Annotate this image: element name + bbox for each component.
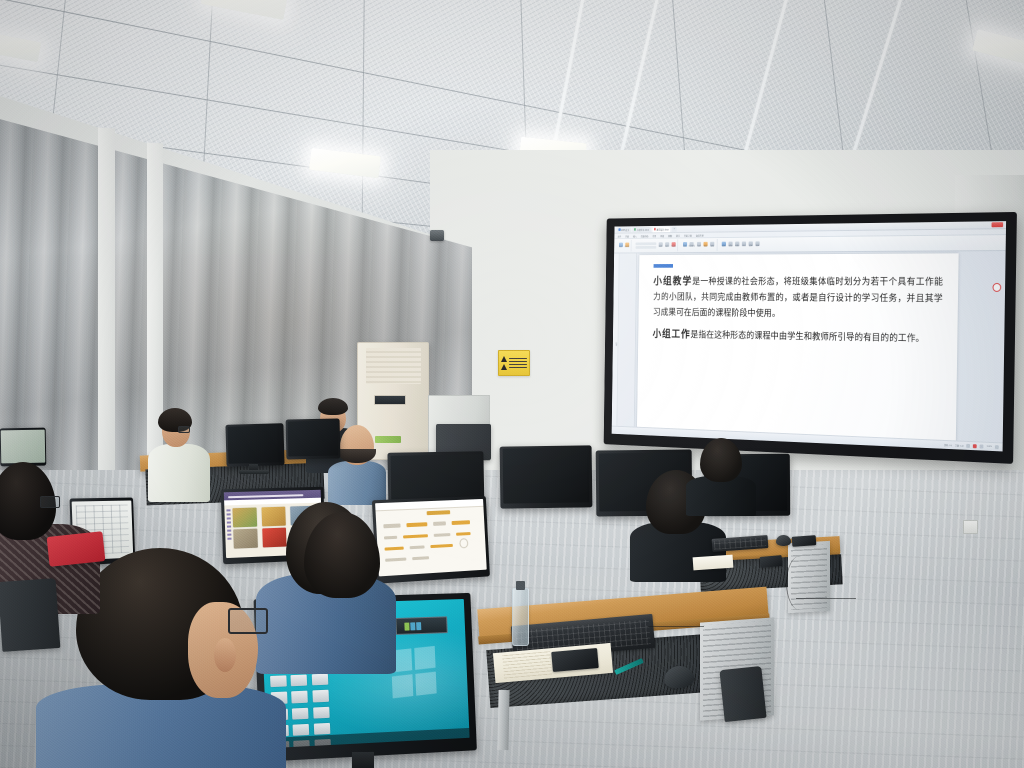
borders-label: 边框 xyxy=(711,247,714,249)
format-painter-label: 格式刷 xyxy=(625,247,630,249)
shading-label: 底纹 xyxy=(704,247,707,249)
zoom-out-icon[interactable] xyxy=(980,444,984,448)
paragraph-body: 是一种授课的社会形态，将班级集体临时划分为若干个具有工作能力的小团队，共同完成由… xyxy=(653,278,943,319)
document-tab-active[interactable]: 教学设计.docx xyxy=(652,226,670,232)
thumbnail-pane[interactable] xyxy=(617,253,637,426)
desktop-icon[interactable] xyxy=(314,723,331,735)
ac-display-panel xyxy=(374,395,406,405)
zoom-level[interactable]: 100% xyxy=(987,446,992,448)
bold-button[interactable]: 加粗 xyxy=(658,242,663,249)
antivirus-icon[interactable] xyxy=(664,439,669,445)
document-page[interactable]: 小组教学是一种授课的社会形态，将班级集体临时划分为若干个具有工作能力的小团队，共… xyxy=(637,253,959,442)
person-light-shirt xyxy=(148,410,210,502)
align-label: 对齐 xyxy=(683,247,686,249)
italic-label: 倾斜 xyxy=(665,247,668,249)
bold-label: 加粗 xyxy=(659,247,662,249)
torso xyxy=(686,476,756,516)
interactive-flat-panel-display[interactable]: WPS文字 小组学习.docx 教学设计.docx + 文件 开始 插入 xyxy=(604,212,1017,464)
media-icon[interactable] xyxy=(657,438,662,444)
desktop-icon[interactable] xyxy=(291,691,308,703)
menu-item[interactable]: 插入 xyxy=(633,234,637,238)
view-layout-icon[interactable] xyxy=(967,444,971,448)
bullets-label: 项目符号 xyxy=(689,247,695,249)
find-label: 查找 xyxy=(749,246,752,248)
bullets-button[interactable]: 项目符号 xyxy=(689,242,695,249)
paste-label: 粘贴 xyxy=(619,247,622,249)
person-left-edge xyxy=(304,512,400,632)
ribbon-group-clipboard: 粘贴 格式刷 xyxy=(617,240,632,252)
page-title-highlight xyxy=(426,511,450,516)
off-monitor-2[interactable] xyxy=(286,418,341,459)
text-selection-highlight xyxy=(654,264,673,268)
smartphone[interactable] xyxy=(792,535,817,547)
hair xyxy=(318,398,348,415)
app-logo-icon xyxy=(992,283,1001,292)
search-icon[interactable] xyxy=(621,437,626,443)
document-tab-label: 小组学习.docx xyxy=(637,227,649,231)
align-button[interactable]: 对齐 xyxy=(682,242,687,249)
gallery-thumbnail[interactable] xyxy=(232,507,257,527)
projected-screen-content[interactable]: WPS文字 小组学习.docx 教学设计.docx + 文件 开始 插入 xyxy=(612,221,1006,451)
warning-triangle-icon xyxy=(501,364,507,370)
tray-notification-popup[interactable] xyxy=(395,617,448,636)
menu-item[interactable]: 视图 xyxy=(668,234,672,238)
styles-button[interactable]: 样式 xyxy=(721,241,726,248)
classroom-photo: WPS文字 小组学习.docx 教学设计.docx + 文件 开始 插入 xyxy=(0,0,1024,768)
ac-air-grill xyxy=(366,348,421,384)
document-workspace[interactable]: 目录 标签 查找 小组教学是一种授课的社会形态，将班级集体临时划分为若干个具有工… xyxy=(612,251,1006,442)
ribbon-group-paragraph: 对齐 项目符号 行距 底纹 xyxy=(680,239,717,251)
menu-item[interactable]: 页面布局 xyxy=(641,234,649,238)
chair-back[interactable] xyxy=(719,666,766,722)
record-icon[interactable] xyxy=(973,444,977,448)
document-paragraph: 小组工作是指在这种形态的课程中由学生和教师所引导的有目的的工作。 xyxy=(653,327,943,349)
document-paragraph: 小组教学是一种授课的社会形态，将班级集体临时划分为若干个具有工作能力的小团队，共… xyxy=(653,274,943,325)
bottle-cap xyxy=(516,581,524,590)
paste-button[interactable]: 粘贴 xyxy=(618,242,623,249)
torso xyxy=(148,444,210,502)
eyeglasses xyxy=(228,608,268,634)
heading1-label: 标题1 xyxy=(728,247,732,249)
italic-button[interactable]: 倾斜 xyxy=(664,242,669,249)
font-name-field[interactable] xyxy=(636,242,657,245)
document-tab[interactable]: WPS文字 xyxy=(617,227,631,233)
zoom-in-icon[interactable] xyxy=(995,445,999,449)
notification-bar xyxy=(410,622,415,630)
desktop-icon[interactable] xyxy=(313,706,330,718)
menu-item[interactable]: 引用 xyxy=(652,234,656,238)
hair xyxy=(304,512,380,598)
start-icon[interactable] xyxy=(614,437,619,443)
monitor-base xyxy=(239,470,269,474)
borders-button[interactable]: 边框 xyxy=(710,242,715,249)
windows-logo-icon xyxy=(390,646,436,698)
torso xyxy=(328,461,386,505)
format-painter-button[interactable]: 格式刷 xyxy=(624,242,629,249)
document-tab[interactable]: 小组学习.docx xyxy=(632,227,650,233)
hair xyxy=(700,438,742,482)
gallery-thumbnail[interactable] xyxy=(233,529,258,549)
smartphone[interactable] xyxy=(551,648,599,672)
desktop-icon[interactable] xyxy=(312,674,329,686)
menu-item[interactable]: 审阅 xyxy=(660,234,664,238)
browser-icon[interactable] xyxy=(635,437,640,443)
water-bottle[interactable] xyxy=(512,588,529,646)
monitor-stand xyxy=(352,752,374,768)
heading1-style-button[interactable]: 标题1 xyxy=(728,241,733,248)
word-count: 字数: 132 xyxy=(955,443,964,447)
monitor-screen[interactable] xyxy=(227,425,283,463)
off-monitor-4[interactable] xyxy=(500,445,593,508)
person-dark-right-2 xyxy=(686,438,756,512)
desktop-icon[interactable] xyxy=(312,690,329,702)
off-monitor-7[interactable] xyxy=(0,428,46,467)
wall-power-socket[interactable] xyxy=(963,520,978,534)
paper-stack xyxy=(693,555,734,571)
new-tab-label: + xyxy=(674,228,675,231)
off-monitor-1[interactable] xyxy=(225,423,284,467)
ceiling-camera-icon xyxy=(430,230,444,241)
monitor-screen[interactable] xyxy=(502,448,589,504)
wps-icon[interactable] xyxy=(642,438,647,444)
ear xyxy=(214,638,236,672)
mouse[interactable] xyxy=(776,535,791,546)
body-style-button[interactable]: 正文 xyxy=(741,241,746,248)
notification-bar xyxy=(417,622,422,630)
paragraph-body: 是指在这种形态的课程中由学生和教师所引导的有目的的工作。 xyxy=(690,331,924,344)
warning-triangle-icon xyxy=(501,356,507,362)
warning-text-lines xyxy=(509,358,527,368)
line-spacing-button[interactable]: 行距 xyxy=(697,242,702,249)
monitor-screen[interactable] xyxy=(1,429,45,463)
nav-item-outline[interactable]: 目录 xyxy=(615,342,617,346)
find-button[interactable]: 查找 xyxy=(748,241,753,248)
eyeglasses xyxy=(178,426,190,433)
menu-item[interactable]: 开始 xyxy=(625,234,629,238)
paragraph-lead-term: 小组工作 xyxy=(653,329,691,340)
explorer-icon[interactable] xyxy=(628,437,633,443)
page-number: 页码: 1/1 xyxy=(944,443,952,447)
red-bag xyxy=(47,531,106,567)
monitor-screen[interactable] xyxy=(287,420,338,456)
electrical-warning-sign xyxy=(498,350,530,376)
ribbon-group-font: 加粗 倾斜 下划线 xyxy=(634,239,678,251)
page-header xyxy=(376,499,483,511)
menu-item[interactable]: 章节 xyxy=(676,233,680,237)
styles-label: 样式 xyxy=(722,247,725,249)
ribbon-group-styles: 样式 标题1 标题2 正文 xyxy=(720,239,762,251)
floor-cable xyxy=(786,556,814,610)
desktop-icon[interactable] xyxy=(292,707,309,719)
desktop-icon[interactable] xyxy=(270,675,287,687)
menu-item[interactable]: 会员专享 xyxy=(696,233,704,237)
chat-icon[interactable] xyxy=(650,438,655,444)
shading-button[interactable]: 底纹 xyxy=(703,242,708,249)
select-label: 选择 xyxy=(756,246,759,248)
paragraph-lead-term: 小组教学 xyxy=(653,277,692,287)
underline-button[interactable]: 下划线 xyxy=(671,242,676,249)
line-spacing-label: 行距 xyxy=(697,247,700,249)
notification-icon xyxy=(404,622,409,630)
font-size-field[interactable] xyxy=(635,246,656,249)
smartphone[interactable] xyxy=(760,555,783,568)
document-tab-label: 教学设计.docx xyxy=(657,227,669,231)
select-button[interactable]: 选择 xyxy=(755,241,760,248)
sidebar-text-lines xyxy=(226,509,231,539)
close-icon[interactable] xyxy=(992,222,1004,227)
document-tab-label: WPS文字 xyxy=(621,228,629,232)
menu-item[interactable]: 开发工具 xyxy=(684,233,692,237)
heading2-style-button[interactable]: 标题2 xyxy=(735,241,740,248)
menu-item[interactable]: 文件 xyxy=(617,234,621,238)
desktop-icon[interactable] xyxy=(291,674,308,686)
eyeglasses xyxy=(40,496,60,508)
heading2-label: 标题2 xyxy=(735,246,739,248)
wall-pillar xyxy=(98,128,115,479)
body-style-label: 正文 xyxy=(742,246,745,248)
new-tab-button[interactable]: + xyxy=(672,226,676,232)
underline-label: 下划线 xyxy=(671,247,676,249)
chair-back[interactable] xyxy=(0,578,60,652)
desktop-icon[interactable] xyxy=(293,724,310,736)
desk-leg xyxy=(497,690,509,750)
